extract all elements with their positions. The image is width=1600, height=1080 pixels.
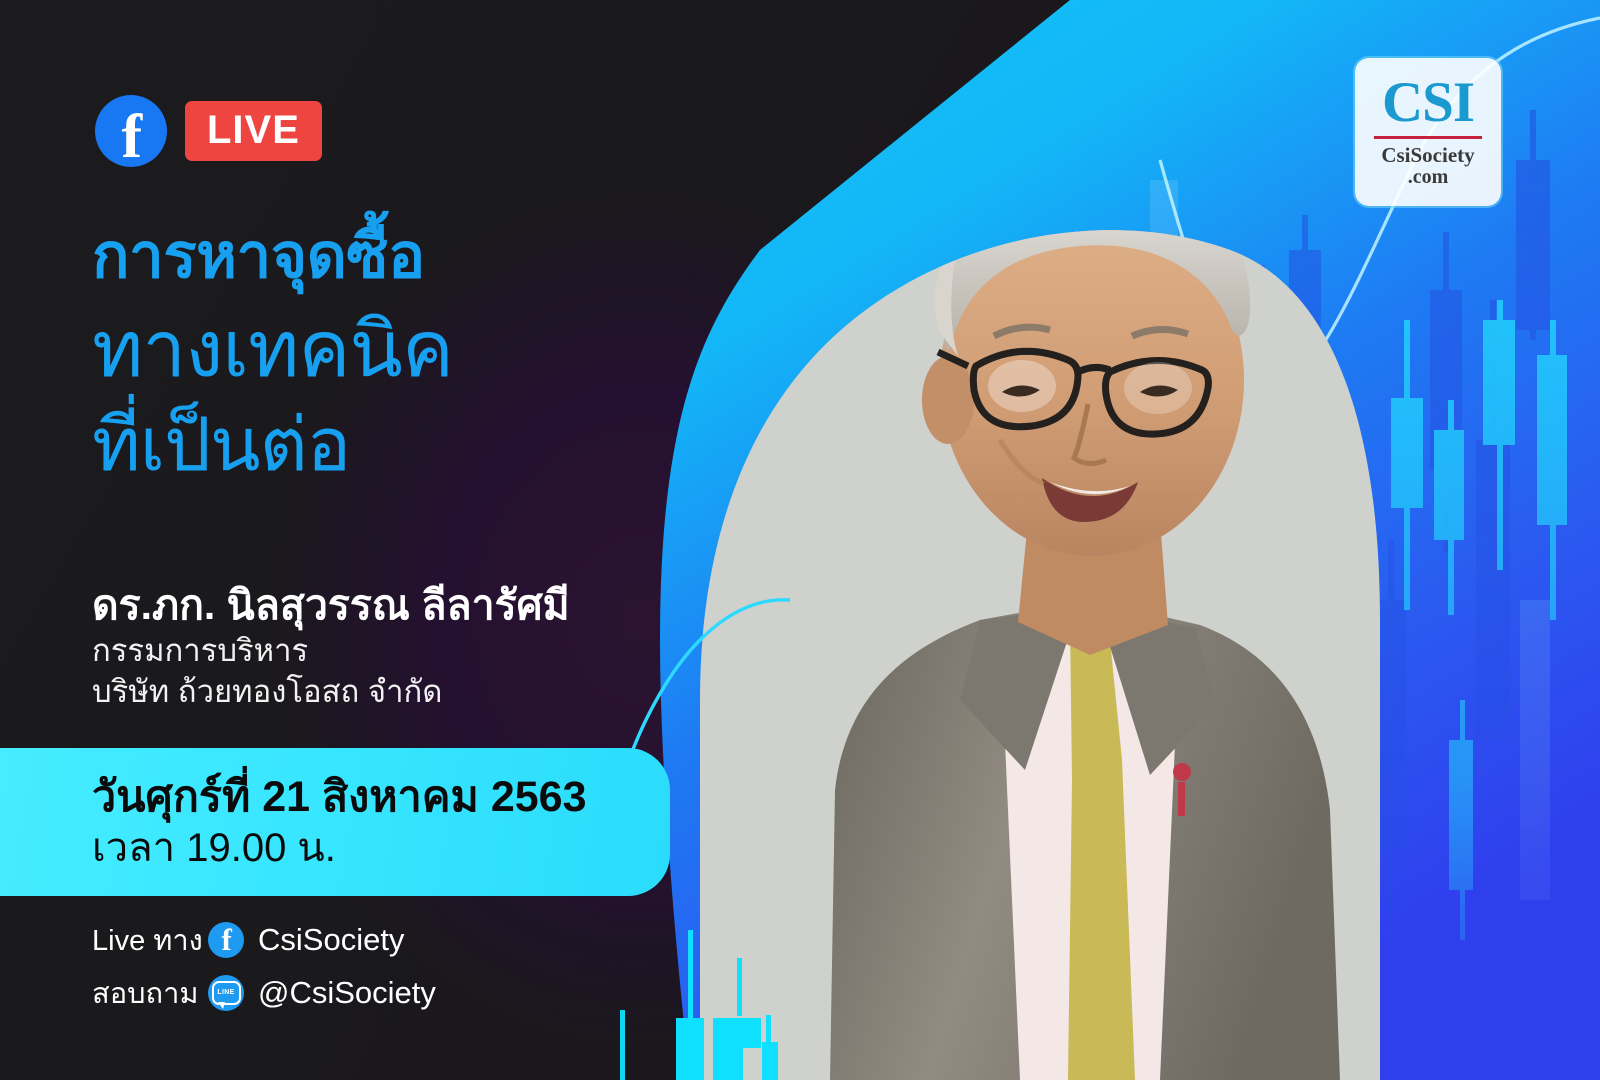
live-label: LIVE [185, 101, 322, 161]
live-event-poster: f LIVE การหาจุดซื้อ ทางเทคนิค ที่เป็นต่อ… [0, 0, 1600, 1080]
facebook-live-badge: f LIVE [95, 95, 322, 167]
facebook-glyph: f [121, 107, 142, 167]
line-bubble: LINE [212, 981, 241, 1005]
headline-line-3: ที่เป็นต่อ [92, 408, 732, 482]
speaker-company: บริษัท ถ้วยทองโอสถ จำกัด [92, 672, 570, 712]
contact-row-facebook[interactable]: Live ทาง f CsiSociety [92, 915, 436, 964]
schedule-badge: วันศุกร์ที่ 21 สิงหาคม 2563 เวลา 19.00 น… [0, 748, 670, 896]
speaker-name: ดร.ภก. นิลสุวรรณ ลีลารัศมี [92, 580, 570, 631]
contact-lead-line: สอบถาม [92, 970, 208, 1016]
contact-list: Live ทาง f CsiSociety สอบถาม LINE @CsiSo… [92, 915, 436, 1021]
facebook-icon: f [95, 95, 167, 167]
event-date: วันศุกร์ที่ 21 สิงหาคม 2563 [92, 771, 670, 823]
headline-line-2: ทางเทคนิค [92, 310, 732, 388]
facebook-handle[interactable]: CsiSociety [258, 922, 404, 958]
logo-mark: CSI [1382, 76, 1474, 130]
logo-domain: .com [1408, 166, 1449, 188]
contact-lead-facebook: Live ทาง [92, 917, 208, 963]
event-time: เวลา 19.00 น. [92, 824, 670, 873]
line-icon[interactable]: LINE [208, 975, 244, 1011]
contact-row-line[interactable]: สอบถาม LINE @CsiSociety [92, 968, 436, 1017]
line-handle[interactable]: @CsiSociety [258, 975, 436, 1011]
logo-rule [1374, 136, 1482, 139]
facebook-icon[interactable]: f [208, 922, 244, 958]
facebook-glyph: f [221, 924, 231, 955]
speaker-role: กรรมการบริหาร [92, 631, 570, 671]
logo-name: CsiSociety [1381, 144, 1474, 166]
page-title: การหาจุดซื้อ ทางเทคนิค ที่เป็นต่อ [92, 226, 732, 482]
speaker-block: ดร.ภก. นิลสุวรรณ ลีลารัศมี กรรมการบริหาร… [92, 580, 570, 712]
line-label: LINE [217, 989, 234, 996]
headline-line-1: การหาจุดซื้อ [92, 226, 732, 288]
csi-society-logo[interactable]: CSI CsiSociety .com [1355, 58, 1501, 206]
